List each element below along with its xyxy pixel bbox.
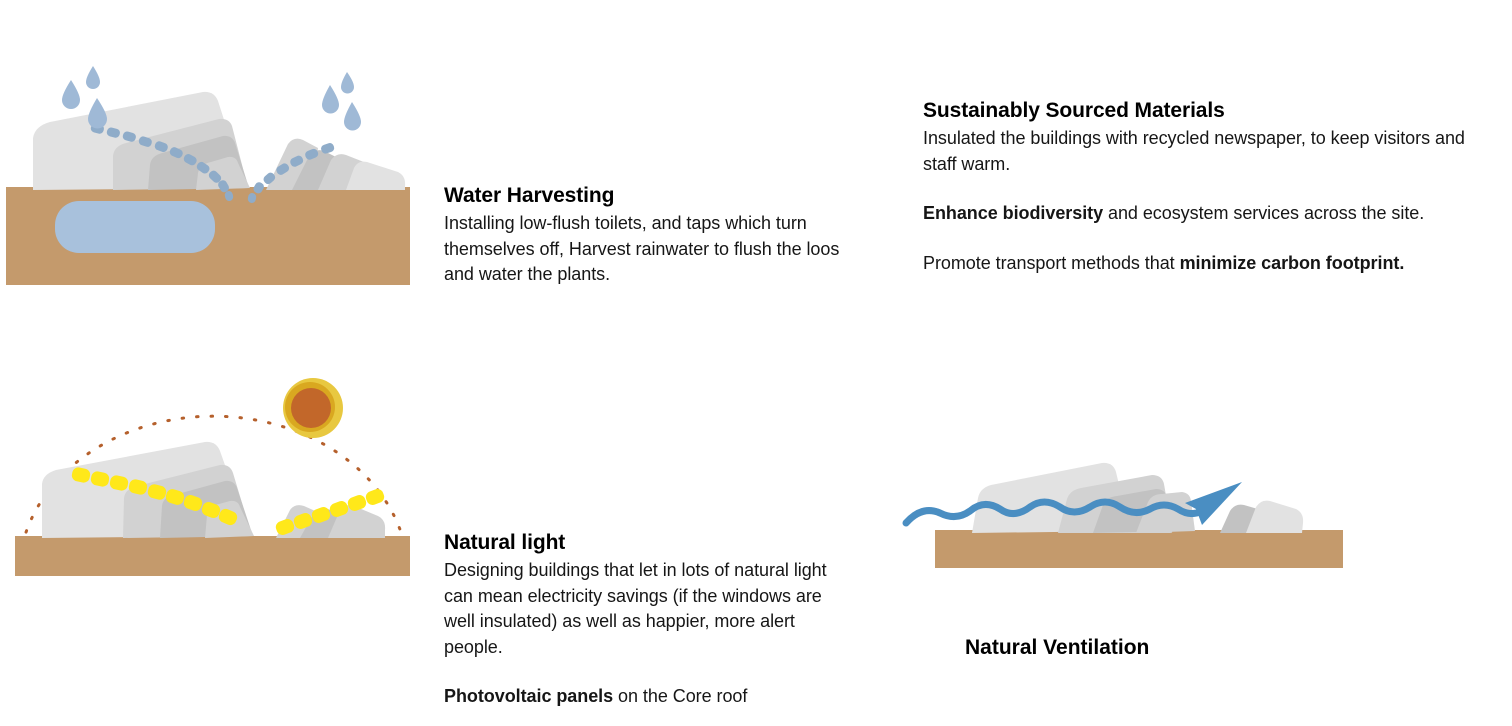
ground-bar xyxy=(15,536,410,576)
sun-icon xyxy=(283,378,343,438)
natural-light-body: Designing buildings that let in lots of … xyxy=(444,558,844,660)
building-cluster-left xyxy=(42,442,254,538)
biodiversity-rest-run: and ecosystem services across the site. xyxy=(1103,203,1424,223)
transport-bold-run: minimize carbon footprint. xyxy=(1180,253,1405,273)
building-cluster xyxy=(972,463,1303,533)
sustainable-materials-body: Insulated the buildings with recycled ne… xyxy=(923,126,1503,177)
natural-light-illustration xyxy=(0,358,420,588)
water-tank xyxy=(55,201,215,253)
natural-ventilation-heading: Natural Ventilation xyxy=(965,635,1295,661)
natural-light-text: Natural light Designing buildings that l… xyxy=(444,530,844,710)
sustainable-materials-text: Sustainably Sourced Materials Insulated … xyxy=(923,98,1503,276)
ground-bar xyxy=(935,530,1343,568)
raindrops-right xyxy=(322,72,361,131)
biodiversity-bold-run: Enhance biodiversity xyxy=(923,203,1103,223)
water-harvesting-text: Water Harvesting Installing low-flush to… xyxy=(444,183,848,288)
natural-ventilation-illustration xyxy=(890,455,1380,595)
photovoltaic-rest-run: on the Core roof xyxy=(613,686,747,706)
water-harvesting-heading: Water Harvesting xyxy=(444,183,848,209)
transport-line: Promote transport methods that minimize … xyxy=(923,251,1503,277)
natural-ventilation-text: Natural Ventilation xyxy=(965,635,1295,661)
photovoltaic-line: Photovoltaic panels on the Core roof xyxy=(444,684,844,710)
photovoltaic-bold-run: Photovoltaic panels xyxy=(444,686,613,706)
water-harvesting-body: Installing low-flush toilets, and taps w… xyxy=(444,211,848,288)
biodiversity-line: Enhance biodiversity and ecosystem servi… xyxy=(923,201,1503,227)
water-harvesting-illustration xyxy=(0,60,420,300)
transport-lead-run: Promote transport methods that xyxy=(923,253,1180,273)
sustainable-materials-heading: Sustainably Sourced Materials xyxy=(923,98,1503,124)
natural-light-heading: Natural light xyxy=(444,530,844,556)
